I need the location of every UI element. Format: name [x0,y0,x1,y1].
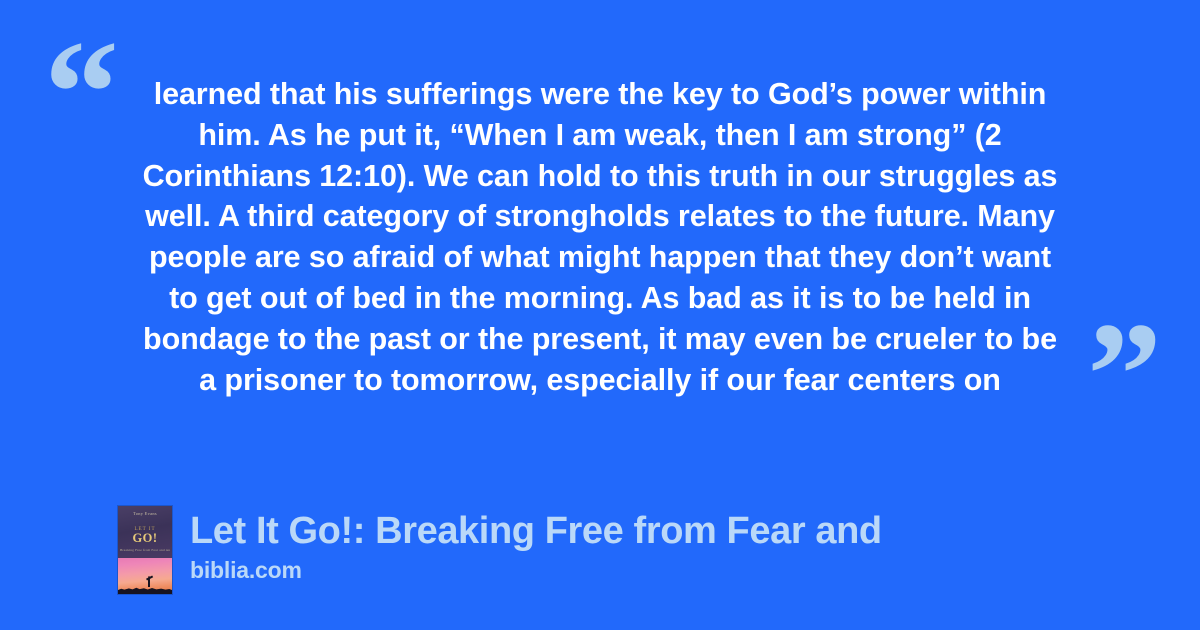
close-quote-icon: ” [1087,300,1160,450]
quote-line: people are so afraid of what might happe… [110,237,1090,278]
attribution-footer: Tony Evans LET IT GO! Breaking Free from… [118,506,1178,594]
book-title: Let It Go!: Breaking Free from Fear and [190,508,1178,554]
quote-line: Corinthians 12:10). We can hold to this … [110,156,1090,197]
book-cover-title: GO! [118,532,172,545]
quote-line: a prisoner to tomorrow, especially if ou… [110,360,1090,401]
quote-line: learned that his sufferings were the key… [110,74,1090,115]
book-cover-author: Tony Evans [118,511,172,516]
quote-line: bondage to the past or the present, it m… [110,319,1090,360]
book-cover-thumbnail: Tony Evans LET IT GO! Breaking Free from… [118,506,172,594]
book-cover-subtitle: Breaking Free from Fear and Anxiety [120,548,170,552]
book-cover-figure [148,576,150,587]
quote-line: to get out of bed in the morning. As bad… [110,278,1090,319]
quote-text: learned that his sufferings were the key… [110,74,1090,400]
attribution-text: Let It Go!: Breaking Free from Fear and … [190,506,1178,585]
source-site: biblia.com [190,555,1178,585]
book-cover-sky [118,558,172,594]
quote-card: “ learned that his sufferings were the k… [0,0,1200,630]
quote-line: well. A third category of strongholds re… [110,196,1090,237]
quote-line: him. As he put it, “When I am weak, then… [110,115,1090,156]
open-quote-icon: “ [44,18,117,168]
